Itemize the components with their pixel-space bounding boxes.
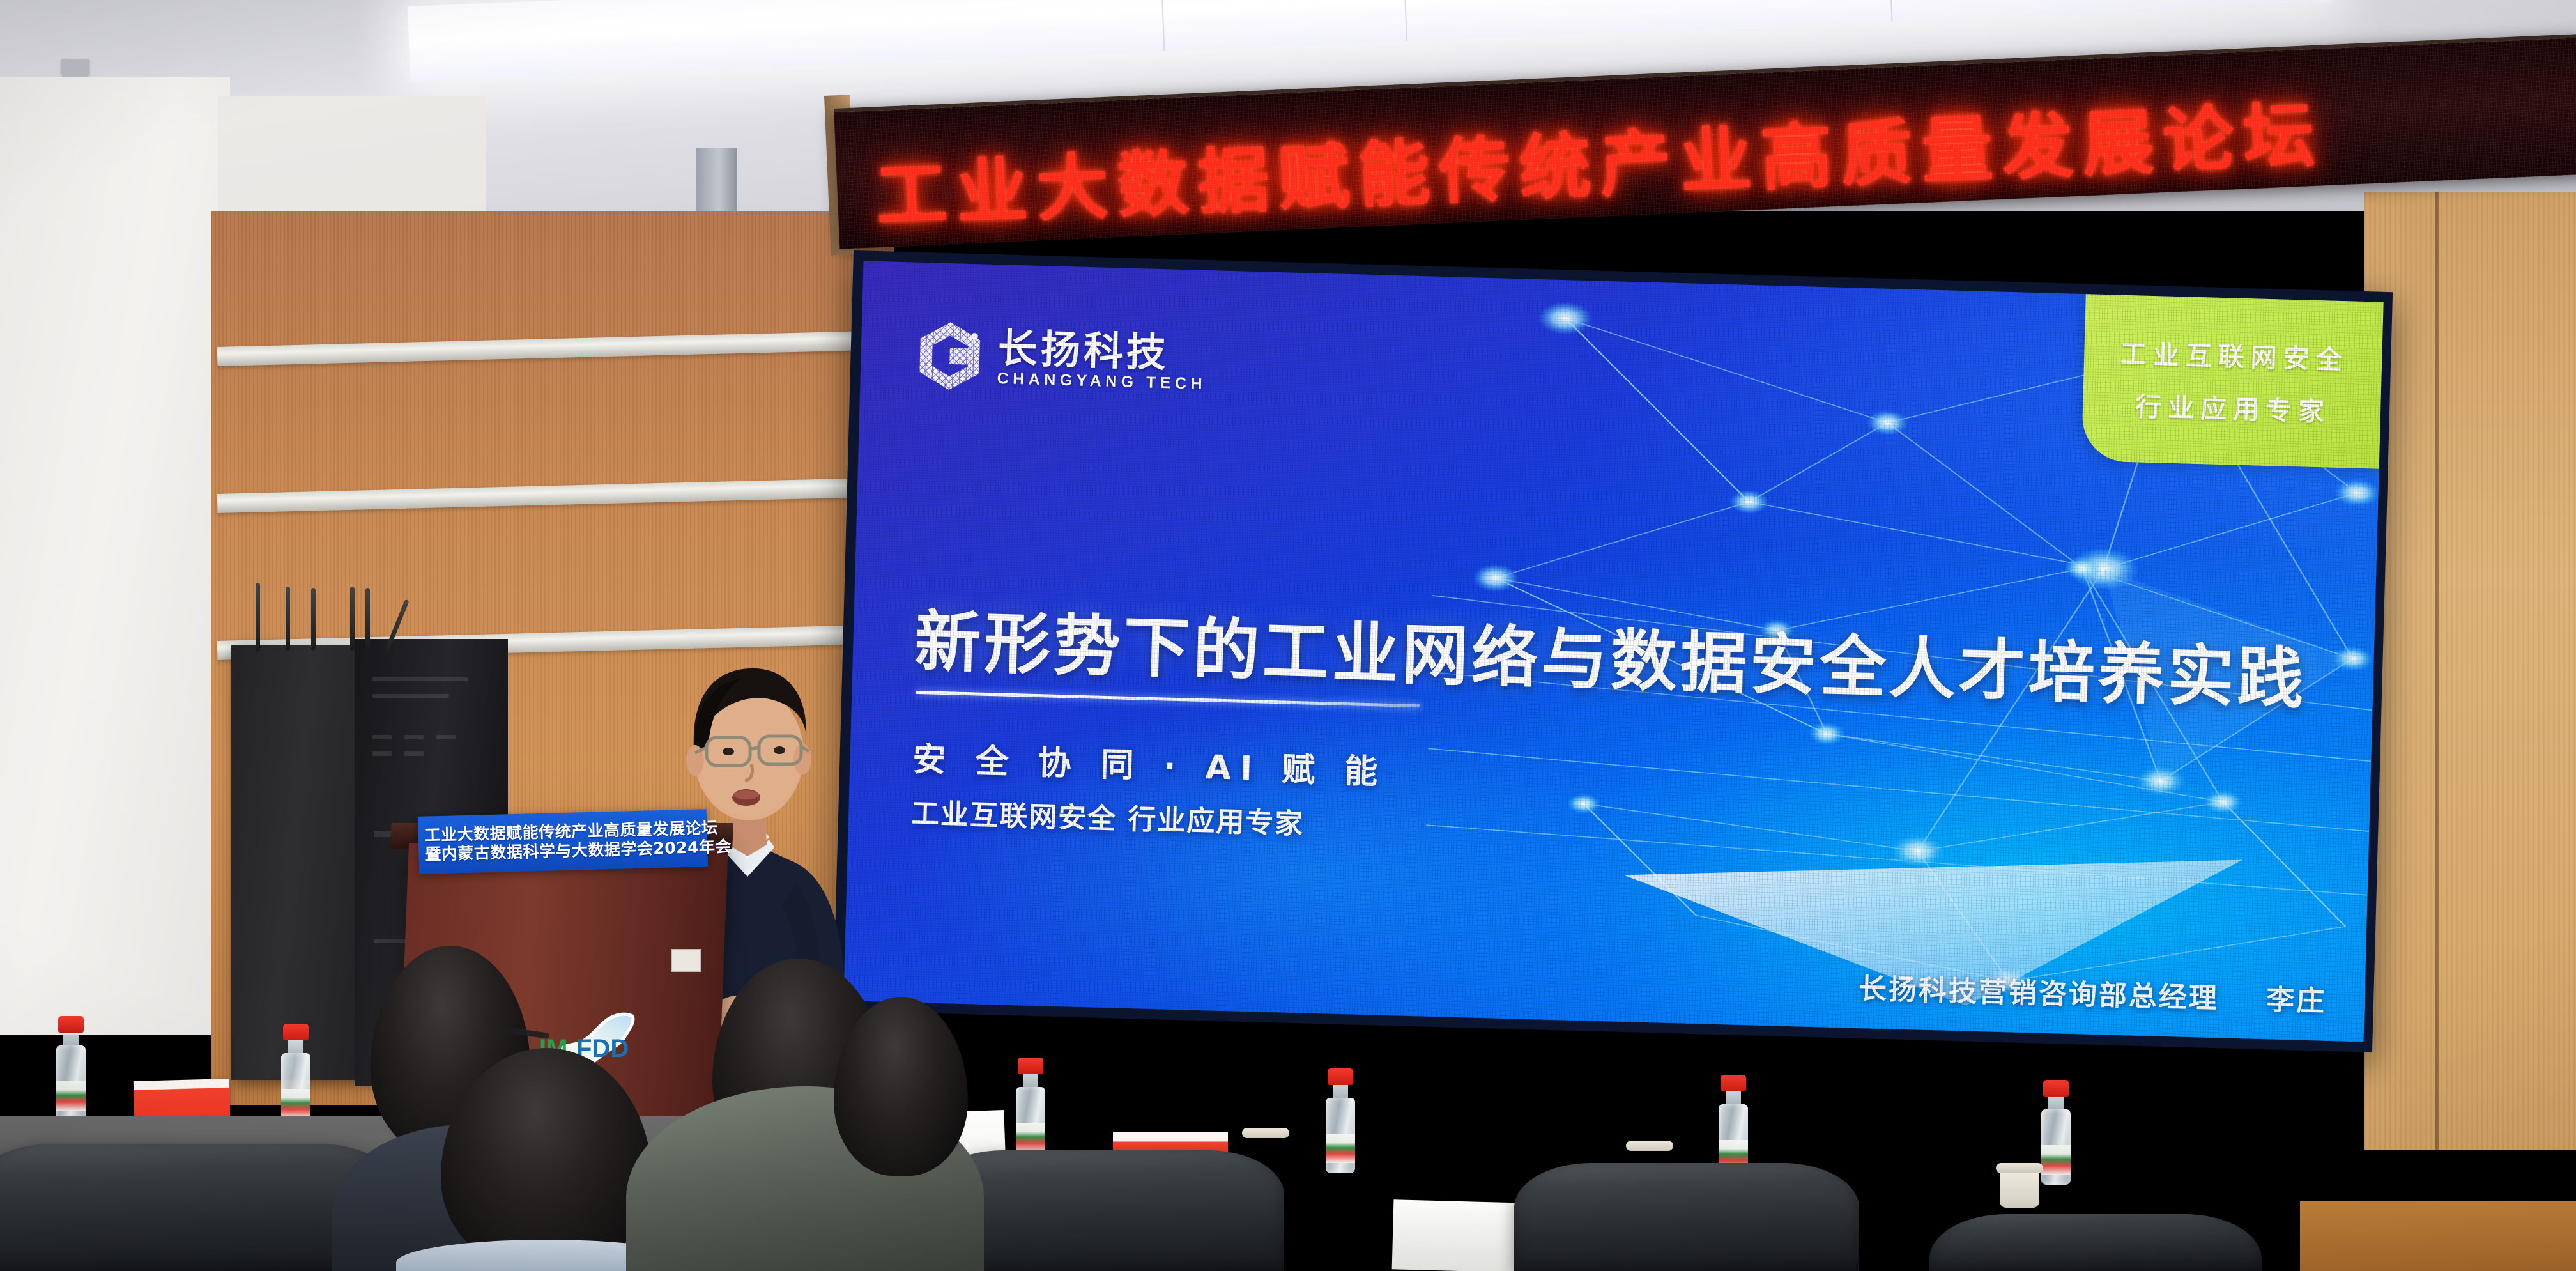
badge-industrial-security: 工业互联网安全 行业应用专家 [2081,291,2384,469]
brand-name-cn: 长扬科技 [997,328,1207,374]
conference-room-photo: 工业大数据赋能传统产业高质量发展论坛 [0,0,2576,1271]
water-bottle [1326,1068,1355,1173]
tea-cup-lid [1996,1163,2043,1173]
antenna-icon [311,588,316,651]
audience-member [834,997,968,1176]
wood-wall-panel-right [2364,192,2576,1150]
floor [2300,1201,2576,1271]
antenna-icon [365,588,370,651]
water-bottle [281,1024,310,1128]
water-bottle [2041,1080,2071,1185]
water-bottle [1016,1058,1045,1162]
badge-line-1: 工业互联网安全 [2120,332,2349,376]
audience-member [441,1048,652,1271]
wall-panel-seam [2435,192,2439,1150]
brand-logo: 长扬科技 CHANGYANG TECH [915,320,1207,398]
brand-name-en: CHANGYANG TECH [997,371,1206,392]
badge-line-2: 行业应用专家 [2135,385,2331,428]
changyang-hexagon-c-icon [915,320,985,392]
antenna-icon [256,583,260,652]
presenter-name: 李庄 [2265,983,2326,1018]
led-display-screen: 工业互联网安全 行业应用专家 长扬科技 CHA [833,250,2393,1052]
presentation-slide: 工业互联网安全 行业应用专家 长扬科技 CHA [843,261,2383,1042]
tea-cup-lid [1242,1128,1289,1138]
water-bottle [56,1016,86,1121]
podium-sign: 工业大数据赋能传统产业高质量发展论坛 暨内蒙古数据科学与大数据学会2024年会 [418,809,708,874]
wall-left-white [0,77,230,1035]
antenna-icon [350,587,355,651]
smoke-detector-icon [61,59,89,78]
led-banner-text: 工业大数据赋能传统产业高质量发展论坛 [873,77,2326,242]
conference-chair [1929,1214,2262,1271]
antenna-icon [286,587,290,651]
printed-handout [1392,1199,1528,1271]
conference-chair [1514,1163,1859,1271]
tea-cup [2000,1171,2039,1208]
tea-cup-lid [1626,1141,1673,1151]
qr-sticker [671,949,701,972]
